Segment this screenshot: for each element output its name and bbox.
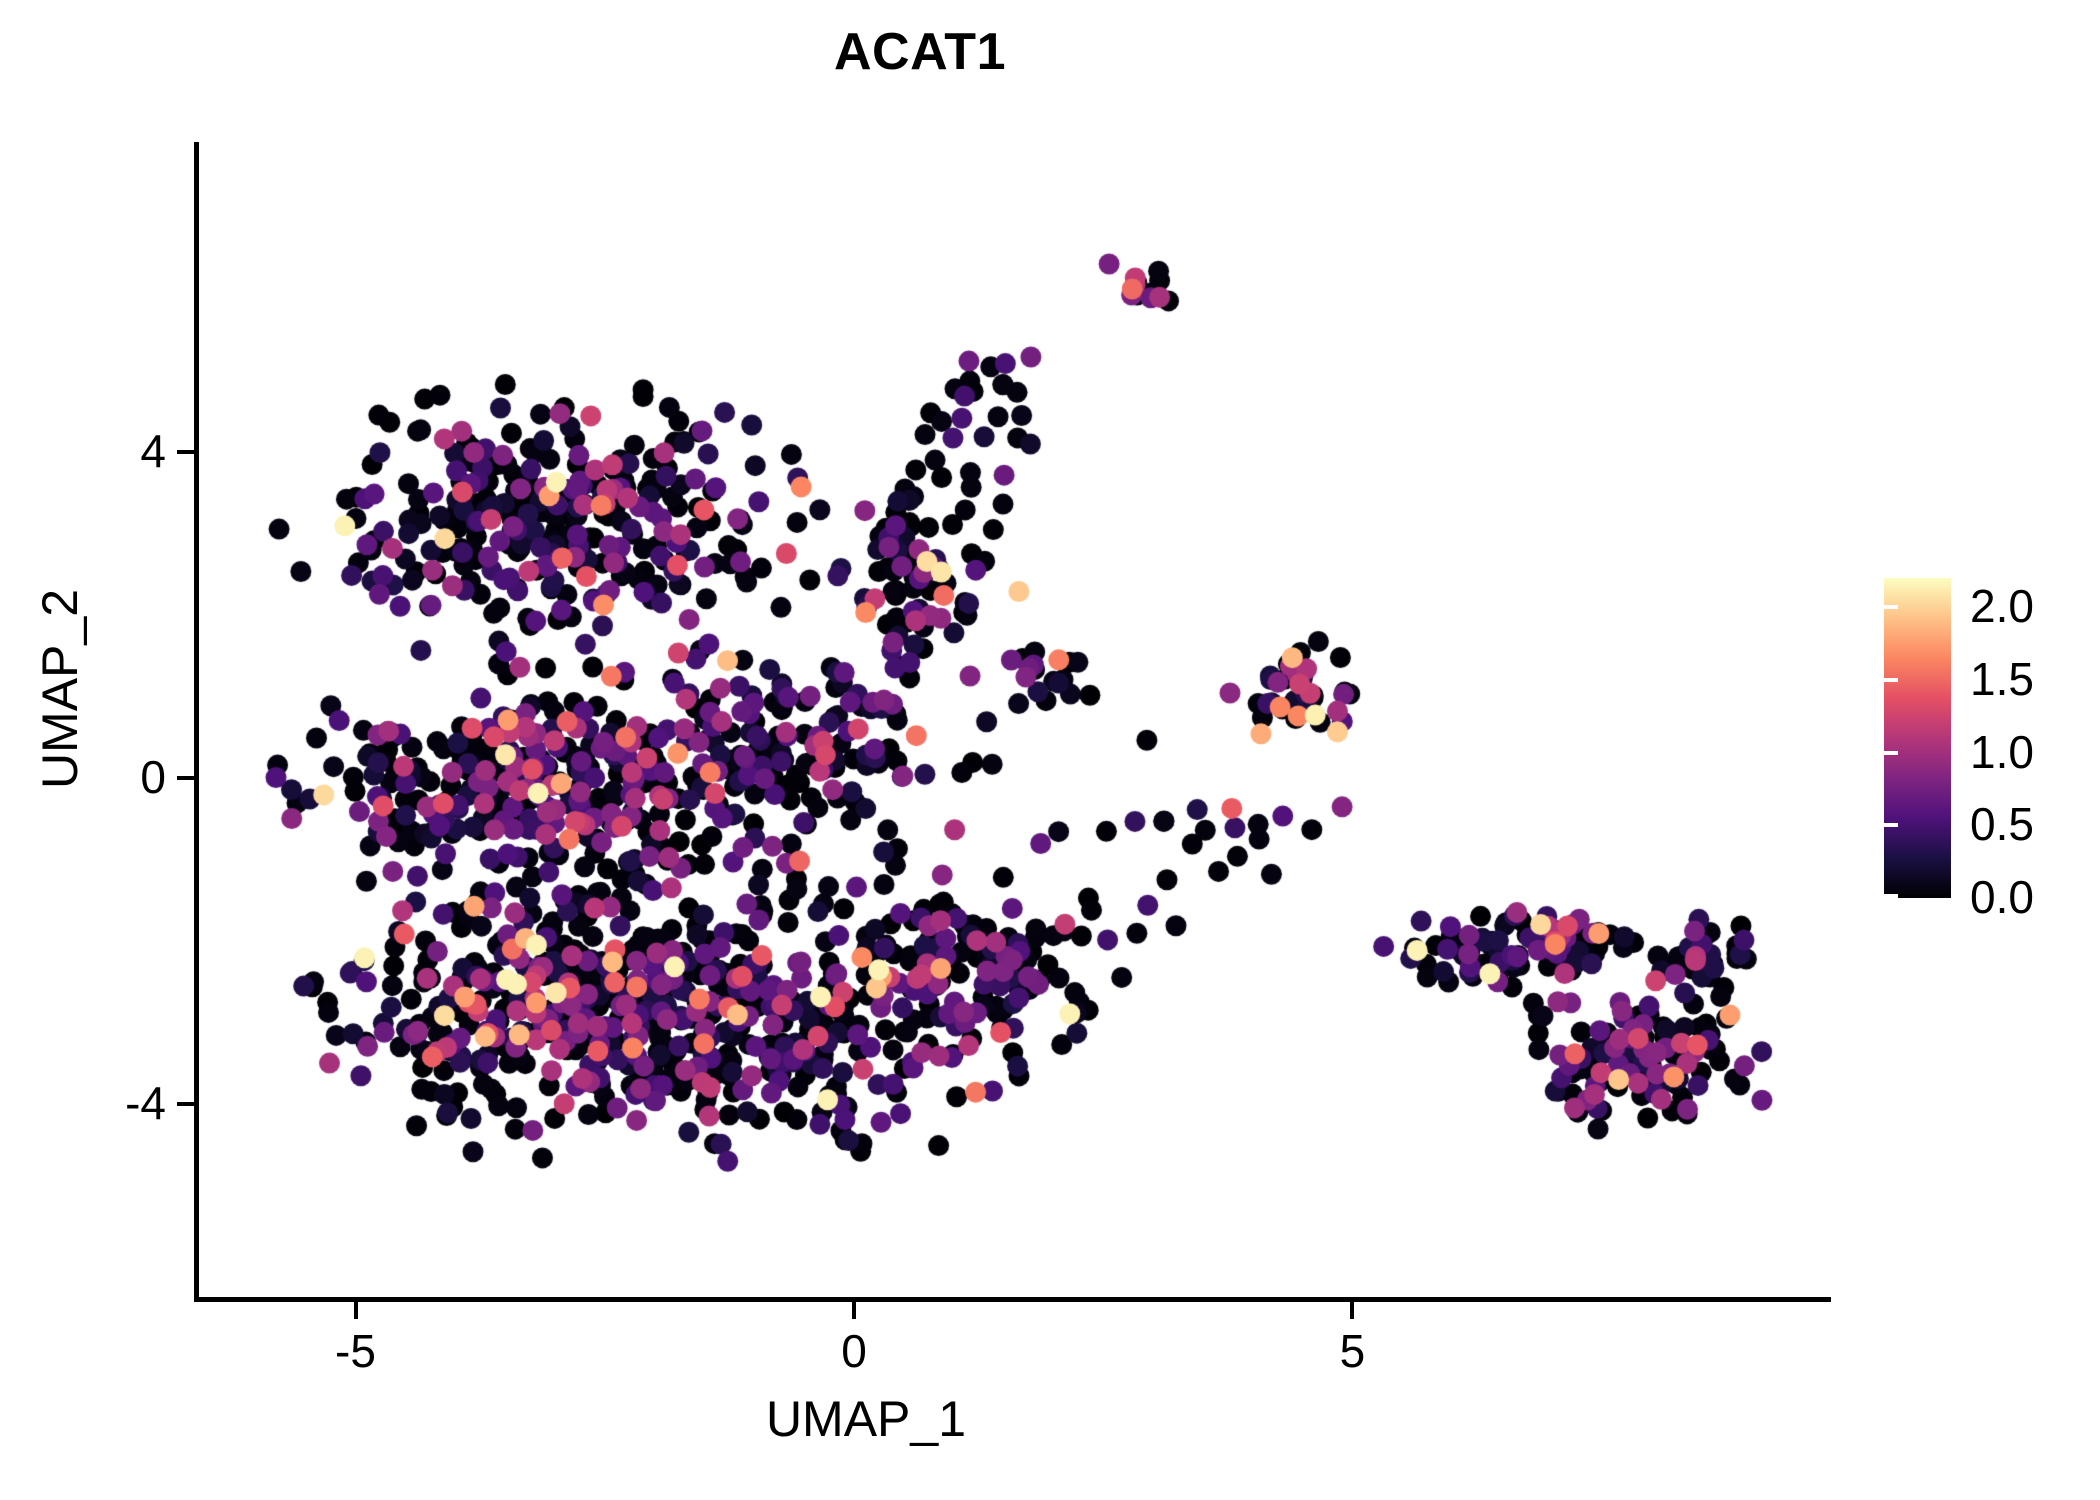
y-tick-label: 4 [140, 428, 166, 474]
colorbar-tick-mark [1884, 751, 1898, 755]
colorbar-tick-mark [2080, 678, 2094, 682]
colorbar-tick-label: 1.0 [1970, 729, 2034, 775]
x-tick-mark [852, 1302, 856, 1319]
colorbar-gradient [1884, 578, 1951, 898]
plot-panel [196, 142, 1831, 1300]
x-tick-label: -5 [276, 1328, 436, 1374]
y-tick-mark [177, 1102, 194, 1106]
colorbar-tick-mark [2080, 605, 2094, 609]
page-title: ACAT1 [0, 22, 1840, 82]
colorbar-tick-mark [1884, 894, 1898, 898]
colorbar-tick-mark [1884, 678, 1898, 682]
colorbar-tick-mark [2080, 894, 2094, 898]
y-tick-mark [177, 450, 194, 454]
colorbar-tick-label: 0.5 [1970, 801, 2034, 847]
x-axis-label: UMAP_1 [196, 1390, 1536, 1448]
y-tick-label: 0 [140, 754, 166, 800]
colorbar-tick-mark [1884, 823, 1898, 827]
colorbar-tick-label: 1.5 [1970, 656, 2034, 702]
scatter-points-canvas [196, 142, 1831, 1300]
x-tick-label: 5 [1272, 1328, 1432, 1374]
colorbar-tick-mark [1884, 605, 1898, 609]
colorbar-tick-mark [2080, 751, 2094, 755]
y-tick-mark [177, 776, 194, 780]
chart-root: ACAT1 40-4 -505 UMAP_1 UMAP_2 2.01.51.00… [0, 0, 2100, 1500]
colorbar-tick-mark [2080, 823, 2094, 827]
x-tick-mark [1350, 1302, 1354, 1319]
y-tick-label: -4 [125, 1080, 166, 1126]
colorbar-legend: 2.01.51.00.50.0 [1884, 578, 2094, 908]
colorbar-tick-label: 0.0 [1970, 874, 2034, 920]
y-axis-label: UMAP_2 [31, 389, 89, 989]
colorbar-tick-label: 2.0 [1970, 583, 2034, 629]
x-tick-label: 0 [774, 1328, 934, 1374]
x-tick-mark [354, 1302, 358, 1319]
